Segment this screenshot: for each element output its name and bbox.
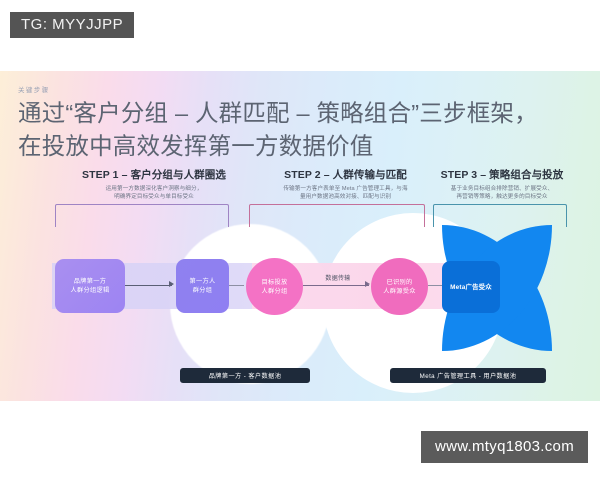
step-3-title: STEP 3 – 策略组合与投放	[404, 167, 600, 182]
flow-node-target-audience-segment: 目标投放 人群分组	[246, 258, 303, 315]
connector-3	[303, 285, 369, 286]
connector-2	[229, 285, 244, 286]
flow-node-brand-first-party-logic: 品牌第一方 人群分组逻辑	[55, 259, 125, 313]
flow-node-first-party-segment: 第一方人 群分组	[176, 259, 229, 313]
flow-node-matched-source-audience: 已识别的 人群源受众	[371, 258, 428, 315]
step-1-title: STEP 1 – 客户分组与人群圈选	[38, 167, 270, 182]
step-column-1: STEP 1 – 客户分组与人群圈选 运用第一方数据深化客户洞察与细分， 明确界…	[38, 167, 270, 202]
data-pool-label-meta: Meta 广告管理工具 - 用户数据池	[390, 368, 546, 383]
site-watermark: www.mtyq1803.com	[421, 431, 588, 463]
step-column-3: STEP 3 – 策略组合与投放 基于业务目标组合排除营销、扩展受众、 再营销等…	[404, 167, 600, 202]
data-pool-label-brand: 品牌第一方 - 客户数据池	[180, 368, 310, 383]
step-3-description: 基于业务目标组合排除营销、扩展受众、 再营销等策略，触达更多的目标受众	[404, 185, 600, 202]
step-1-bracket	[55, 204, 229, 227]
connector-1-arrow-icon	[169, 281, 174, 287]
step-2-bracket	[249, 204, 425, 227]
step-1-description: 运用第一方数据深化客户洞察与细分， 明确界定目标受众与单目标受众	[38, 185, 270, 202]
presentation-slide: 关键步骤 通过“客户分组 – 人群匹配 – 策略组合”三步框架， 在投放中高效发…	[0, 71, 600, 401]
slide-eyebrow-label: 关键步骤	[18, 84, 50, 94]
step-3-bracket	[433, 204, 567, 227]
flow-node-meta-ad-audience: Meta广告受众	[442, 261, 500, 313]
screenshot-root: TG: MYYJJPP 关键步骤 通过“客户分组 – 人群匹配 – 策略组合”三…	[0, 0, 600, 480]
slide-headline: 通过“客户分组 – 人群匹配 – 策略组合”三步框架， 在投放中高效发挥第一方数…	[18, 97, 586, 163]
connector-label-data-transfer: 数据传输	[309, 273, 367, 282]
telegram-tag-badge: TG: MYYJJPP	[10, 12, 134, 38]
connector-1	[125, 285, 172, 286]
